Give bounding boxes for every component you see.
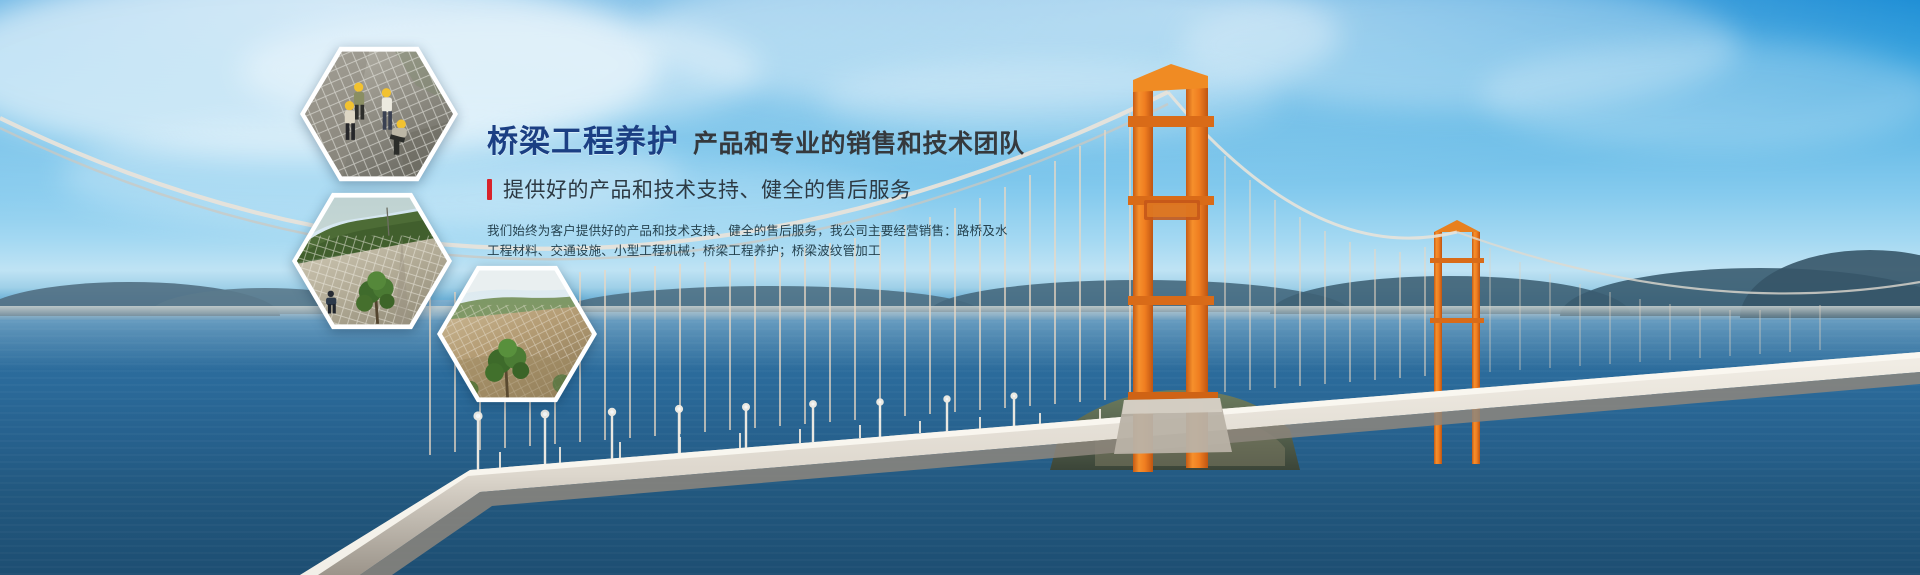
headline: 桥梁工程养护 产品和专业的销售和技术团队 [487,126,1047,157]
hex-frame [437,263,597,405]
hexagon-photo-group [0,0,640,575]
headline-secondary: 产品和专业的销售和技术团队 [693,132,1025,157]
hex-photo-slope-mesh-workers[interactable] [300,44,458,184]
hex-frame [300,44,458,184]
hex-photo-image [442,268,592,400]
subheading-row: 提供好的产品和技术支持、健全的售后服务 [487,174,1047,204]
headline-primary: 桥梁工程养护 [487,126,679,157]
hex-photo-image [305,49,453,179]
hex-frame [292,190,452,332]
accent-bar-icon [487,179,492,200]
body-paragraph: 我们始终为客户提供好的产品和技术支持、健全的售后服务，我公司主要经营销售：路桥及… [487,221,1047,261]
banner-copy: 桥梁工程养护 产品和专业的销售和技术团队 提供好的产品和技术支持、健全的售后服务… [487,126,1047,261]
body-line: 工程材料、交通设施、小型工程机械；桥梁工程养护；桥梁波纹管加工 [487,241,1047,261]
hex-photo-image [297,195,447,327]
hex-photo-embankment-mesh[interactable] [437,263,597,405]
subheading-text: 提供好的产品和技术支持、健全的售后服务 [503,174,912,204]
hex-photo-hillside-mesh[interactable] [292,190,452,332]
banner-hero: 桥梁工程养护 产品和专业的销售和技术团队 提供好的产品和技术支持、健全的售后服务… [0,0,1920,575]
body-line: 我们始终为客户提供好的产品和技术支持、健全的售后服务，我公司主要经营销售：路桥及… [487,221,1047,241]
